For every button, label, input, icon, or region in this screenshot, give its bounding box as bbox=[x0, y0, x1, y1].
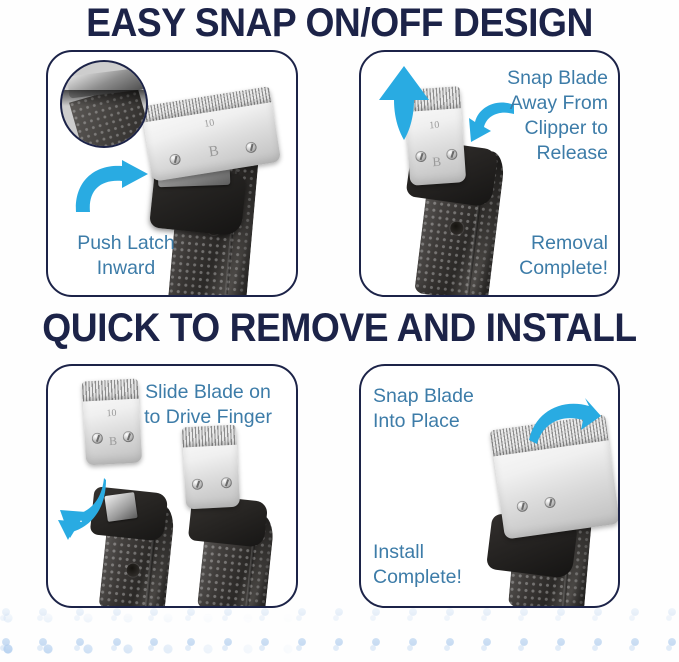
caption-removal-complete: Removal Complete! bbox=[460, 231, 608, 281]
panel-slide-blade: 10 B Slide Blade on to Drive Finger bbox=[46, 364, 298, 608]
curved-arrow-down-left-icon bbox=[56, 476, 110, 542]
blade-model-mark: 10 bbox=[204, 117, 216, 129]
blade-teeth bbox=[141, 86, 272, 122]
caption-snap-place: Snap Blade Into Place bbox=[373, 384, 513, 434]
blade-screw-left bbox=[92, 433, 104, 445]
panel-push-latch: 10 B Push Latch Inward bbox=[46, 50, 298, 297]
blade-screw-right bbox=[446, 149, 458, 161]
straight-arrow-up-icon bbox=[377, 64, 431, 142]
latch-closeup-inset bbox=[60, 60, 148, 148]
caption-install-complete: Install Complete! bbox=[373, 540, 523, 590]
blade-brand-mark: B bbox=[109, 434, 118, 449]
curved-arrow-right-icon bbox=[70, 158, 170, 220]
blade-screw-left bbox=[516, 500, 528, 512]
handle-hole bbox=[126, 563, 140, 577]
curved-arrow-down-right-icon bbox=[527, 396, 603, 452]
blade-screw-right bbox=[221, 477, 233, 489]
page-title-top: EASY SNAP ON/OFF DESIGN bbox=[24, 1, 655, 45]
inset-shadow bbox=[62, 90, 146, 106]
blade-screw-right bbox=[123, 431, 135, 443]
snap-on-blade-attaching bbox=[182, 425, 240, 510]
panel-snap-away: 10 B Snap Blade Away From Clipper to Rel… bbox=[359, 50, 620, 297]
blade-screw-right bbox=[245, 141, 258, 154]
blade-brand-mark: B bbox=[208, 143, 221, 161]
page-title-middle: QUICK TO REMOVE AND INSTALL bbox=[24, 306, 655, 350]
infographic-sheet: EASY SNAP ON/OFF DESIGN 10 B bbox=[0, 0, 679, 662]
blade-screw-right bbox=[544, 496, 556, 508]
blade-brand-mark: B bbox=[432, 154, 442, 171]
blade-screw-left bbox=[192, 478, 204, 490]
caption-slide-blade: Slide Blade on to Drive Finger bbox=[128, 380, 288, 430]
panel-snap-place: Snap Blade Into Place Install Complete! bbox=[359, 364, 620, 608]
blade-screw-left bbox=[415, 151, 427, 163]
blade-screw-left bbox=[169, 153, 182, 166]
caption-snap-away: Snap Blade Away From Clipper to Release bbox=[460, 66, 608, 166]
caption-push-latch: Push Latch Inward bbox=[52, 231, 200, 281]
blade-model-mark: 10 bbox=[106, 408, 117, 420]
